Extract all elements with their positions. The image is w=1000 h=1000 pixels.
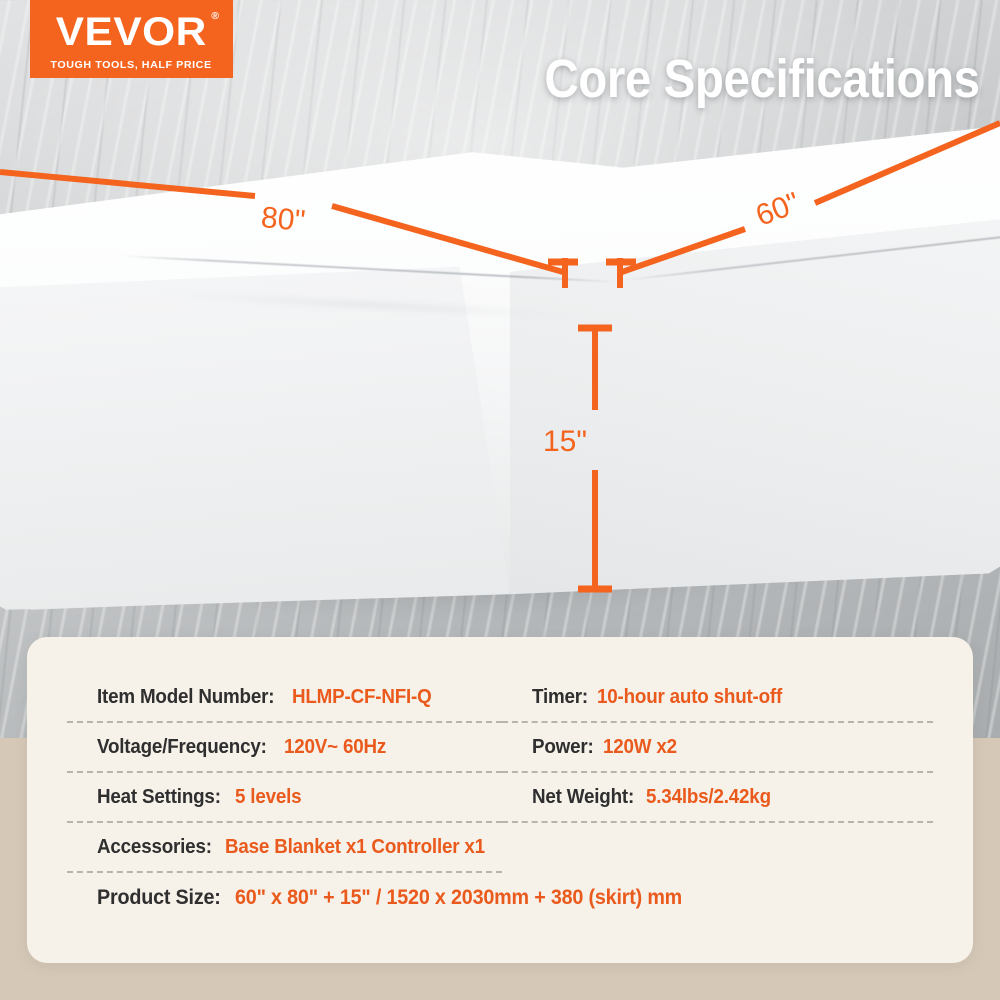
spec-value: 60" x 80" + 15" / 1520 x 2030mm + 380 (s… (235, 886, 682, 910)
spec-value: 120V~ 60Hz (284, 736, 386, 759)
spec-column-left: Item Model Number: HLMP-CF-NFI-Q Voltage… (67, 673, 502, 873)
spec-key: Timer: (532, 686, 588, 709)
brand-name-text: VEVOR (56, 10, 207, 54)
registered-trademark-icon: ® (211, 12, 219, 22)
spec-row-heat-settings: Heat Settings: 5 levels (67, 773, 502, 823)
spec-row-right-spacer (502, 823, 933, 873)
dimension-label-depth: 15" (543, 425, 587, 459)
vevor-logo: VEVOR® TOUGH TOOLS, HALF PRICE (30, 0, 233, 78)
spec-value: 10-hour auto shut-off (597, 686, 782, 709)
length-line-left (0, 172, 255, 196)
spec-value: HLMP-CF-NFI-Q (292, 686, 432, 709)
spec-row-net-weight: Net Weight: 5.34lbs/2.42kg (502, 773, 933, 823)
spec-key: Power: (532, 736, 594, 759)
product-spec-page: 80" 60" 15" VEVOR® TOUGH TOOLS, HALF PRI… (0, 0, 1000, 1000)
spec-key: Net Weight: (532, 786, 634, 809)
spec-row-item-model-number: Item Model Number: HLMP-CF-NFI-Q (67, 673, 502, 723)
spec-row-power: Power: 120W x2 (502, 723, 933, 773)
product-photo: 80" 60" 15" VEVOR® TOUGH TOOLS, HALF PRI… (0, 0, 1000, 745)
spec-row-product-size: Product Size: 60" x 80" + 15" / 1520 x 2… (67, 873, 933, 923)
brand-name: VEVOR® (56, 12, 207, 52)
spec-value: Base Blanket x1 Controller x1 (225, 836, 485, 859)
width-line-right (815, 123, 1000, 203)
spec-key: Product Size: (97, 886, 221, 910)
specifications-panel: Item Model Number: HLMP-CF-NFI-Q Voltage… (27, 637, 973, 963)
page-title: Core Specifications (545, 52, 980, 106)
brand-tagline: TOUGH TOOLS, HALF PRICE (51, 59, 212, 71)
spec-column-right: Timer: 10-hour auto shut-off Power: 120W… (502, 673, 933, 873)
width-line-left (622, 229, 745, 272)
spec-row-accessories: Accessories: Base Blanket x1 Controller … (67, 823, 502, 873)
spec-row-timer: Timer: 10-hour auto shut-off (502, 673, 933, 723)
dimension-lines (0, 0, 1000, 745)
spec-value: 5.34lbs/2.42kg (646, 786, 771, 809)
length-line-right (332, 206, 563, 272)
spec-key: Heat Settings: (97, 786, 221, 809)
spec-row-voltage-frequency: Voltage/Frequency: 120V~ 60Hz (67, 723, 502, 773)
spec-value: 5 levels (235, 786, 301, 809)
spec-key: Accessories: (97, 836, 212, 859)
spec-key: Item Model Number: (97, 686, 274, 709)
specifications-grid: Item Model Number: HLMP-CF-NFI-Q Voltage… (67, 673, 933, 873)
spec-value: 120W x2 (603, 736, 677, 759)
spec-key: Voltage/Frequency: (97, 736, 267, 759)
dimension-label-length: 80" (259, 201, 306, 239)
